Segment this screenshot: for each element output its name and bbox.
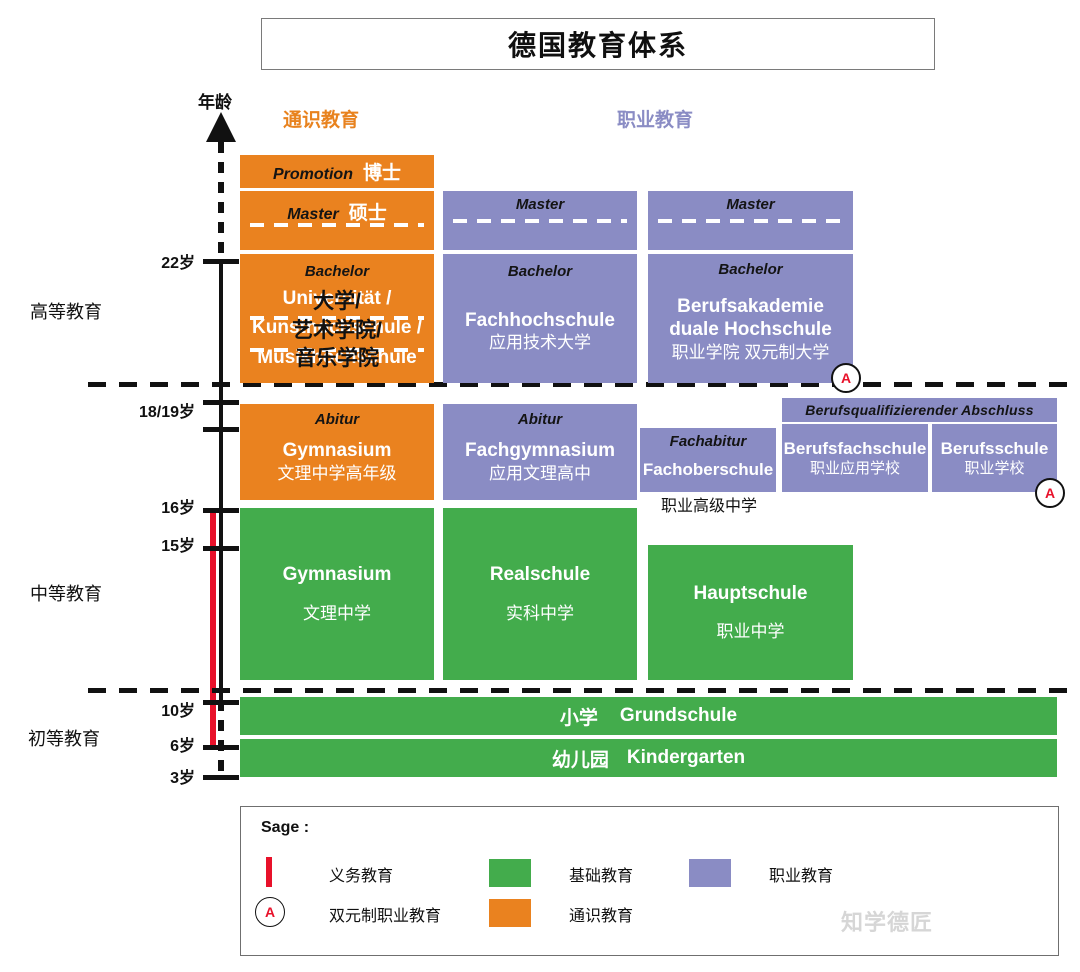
realschule-cn: 实科中学	[506, 603, 574, 625]
axis-tick-3	[203, 775, 239, 780]
axis-ticklabel-18-19: 18/19岁	[85, 398, 195, 422]
stage-label-secondary-education: 中等教育	[30, 580, 180, 606]
page-title: 德国教育体系	[508, 24, 688, 64]
master-ba-label: Master	[648, 197, 853, 213]
master-cn-label: 硕士	[349, 198, 387, 225]
box-berufsfachschule[interactable]: Berufsfachschule 职业应用学校	[782, 424, 928, 492]
master-dashed-rule	[250, 223, 424, 227]
axis-arrow-icon	[206, 112, 236, 142]
legend-label-dual: 双元制职业教育	[329, 902, 441, 926]
box-promotion[interactable]: Promotion 博士	[240, 155, 434, 188]
axis-tick-18-19	[203, 400, 239, 405]
legend-panel: Sage : 义务教育 A 双元制职业教育 基础教育 通识教育 职业教育 知学德…	[240, 806, 1059, 956]
age-axis-dashed-bottom	[218, 700, 224, 778]
master-de-label: Master	[287, 206, 339, 224]
legend-label-compulsory: 义务教育	[329, 862, 393, 886]
hauptschule-de: Hauptschule	[693, 582, 807, 606]
column-header-vocational-education: 职业教育	[617, 105, 693, 132]
column-header-general-education: 通识教育	[283, 105, 359, 132]
axis-ticklabel-10: 10岁	[85, 697, 195, 721]
axis-tick-secondary-top	[203, 427, 239, 432]
fachhochschule-de: Fachhochschule	[465, 309, 615, 333]
box-fachoberschule[interactable]: Fachabitur Fachoberschule	[640, 428, 776, 492]
box-bachelor-berufsakademie[interactable]: Bachelor Berufsakademie duale Hochschule…	[648, 254, 853, 383]
abitur-label-fachgymnasium: Abitur	[443, 412, 637, 428]
legend-label-basic: 基础教育	[569, 862, 633, 886]
box-bachelor-university[interactable]: Bachelor Universität / Kunsthochschule /…	[240, 254, 434, 383]
kindergarten-cn: 幼儿园	[552, 745, 609, 772]
age-axis-dashed-top	[218, 142, 224, 262]
dual-system-marker-icon: A	[831, 363, 861, 393]
gymnasium-cn: 文理中学	[303, 603, 371, 625]
bachelor-fh-label: Bachelor	[443, 264, 637, 280]
fachhochschule-cn: 应用技术大学	[489, 332, 591, 354]
berufsfachschule-cn: 职业应用学校	[810, 459, 900, 479]
bachelor-dashed-rule-1	[250, 316, 424, 320]
stage-label-primary-education: 初等教育	[28, 725, 178, 751]
axis-ticklabel-15: 15岁	[85, 532, 195, 556]
realschule-de: Realschule	[490, 563, 590, 587]
axis-tick-10	[203, 700, 239, 705]
box-master-fachhochschule[interactable]: Master	[443, 191, 637, 250]
fachgymnasium-cn: 应用文理高中	[489, 463, 591, 485]
berufsakademie-de-line-2: duale Hochschule	[669, 318, 832, 342]
university-german-names: Universität / Kunsthochschule / Musikhoc…	[240, 284, 434, 372]
box-realschule[interactable]: Realschule 实科中学	[443, 508, 637, 680]
box-master-university[interactable]: Master 硕士	[240, 191, 434, 250]
promotion-de-label: Promotion	[273, 166, 353, 184]
box-fachgymnasium[interactable]: Abitur Fachgymnasium 应用文理高中	[443, 404, 637, 500]
axis-label-age: 年龄	[198, 88, 232, 113]
gymnasium-de: Gymnasium	[283, 563, 392, 587]
box-bachelor-fachhochschule[interactable]: Bachelor Fachhochschule 应用技术大学	[443, 254, 637, 383]
master-fh-dashed-rule	[453, 219, 627, 223]
separator-secondary-primary	[88, 688, 1072, 693]
berufsschule-de: Berufsschule	[941, 438, 1049, 459]
watermark: 知学德匠	[841, 905, 933, 937]
box-gymnasium[interactable]: Gymnasium 文理中学	[240, 508, 434, 680]
master-ba-dashed-rule	[658, 219, 843, 223]
legend-dual-marker-icon: A	[255, 897, 285, 927]
legend-label-general: 通识教育	[569, 902, 633, 926]
box-gymnasium-abitur[interactable]: Abitur Gymnasium 文理中学高年级	[240, 404, 434, 500]
axis-tick-22	[203, 259, 239, 264]
berufsfachschule-de: Berufsfachschule	[784, 438, 927, 459]
box-grundschule[interactable]: 小学 Grundschule	[240, 697, 1057, 735]
berufsqualifizierender-abschluss-label: Berufsqualifizierender Abschluss	[805, 402, 1033, 418]
dual-system-marker-icon-2: A	[1035, 478, 1065, 508]
legend-label-vocational: 职业教育	[769, 862, 833, 886]
berufsakademie-de-line-1: Berufsakademie	[677, 295, 824, 319]
box-hauptschule[interactable]: Hauptschule 职业中学	[648, 545, 853, 680]
diagram-title-box: 德国教育体系	[261, 18, 935, 70]
berufsschule-cn: 职业学校	[964, 459, 1024, 479]
master-fh-label: Master	[443, 197, 637, 213]
fachoberschule-de: Fachoberschule	[643, 459, 773, 480]
compulsory-education-bar	[210, 508, 216, 748]
abitur-label-gymnasium: Abitur	[240, 412, 434, 428]
legend-swatch-compulsory	[266, 857, 272, 887]
grundschule-de: Grundschule	[620, 705, 737, 727]
kindergarten-de: Kindergarten	[627, 747, 745, 769]
university-de-line-1: Universität /	[240, 284, 434, 313]
fachoberschule-cn: 职业高级中学	[634, 492, 784, 516]
grundschule-cn: 小学	[560, 703, 598, 730]
axis-tick-15	[203, 546, 239, 551]
promotion-cn-label: 博士	[363, 158, 401, 185]
axis-ticklabel-22: 22岁	[85, 249, 195, 273]
bachelor-ba-label: Bachelor	[648, 262, 853, 278]
axis-tick-16	[203, 508, 239, 513]
box-kindergarten[interactable]: 幼儿园 Kindergarten	[240, 739, 1057, 777]
fachgymnasium-de: Fachgymnasium	[465, 439, 615, 463]
legend-swatch-basic	[489, 859, 531, 887]
axis-ticklabel-16: 16岁	[85, 494, 195, 518]
bachelor-dashed-rule-2	[250, 348, 424, 352]
legend-title: Sage :	[261, 819, 309, 837]
gymnasium-upper-de: Gymnasium	[283, 439, 392, 463]
gymnasium-upper-cn: 文理中学高年级	[278, 463, 397, 485]
box-master-berufsakademie[interactable]: Master	[648, 191, 853, 250]
axis-ticklabel-3: 3岁	[85, 764, 195, 788]
stage-label-higher-education: 高等教育	[30, 298, 180, 324]
legend-swatch-vocational	[689, 859, 731, 887]
legend-swatch-general	[489, 899, 531, 927]
fachabitur-label: Fachabitur	[640, 434, 776, 450]
box-berufsqualifizierender-abschluss: Berufsqualifizierender Abschluss	[782, 398, 1057, 422]
berufsakademie-cn: 职业学院 双元制大学	[672, 342, 830, 364]
bachelor-de-label: Bachelor	[240, 264, 434, 280]
axis-tick-6	[203, 745, 239, 750]
hauptschule-cn: 职业中学	[717, 621, 785, 643]
